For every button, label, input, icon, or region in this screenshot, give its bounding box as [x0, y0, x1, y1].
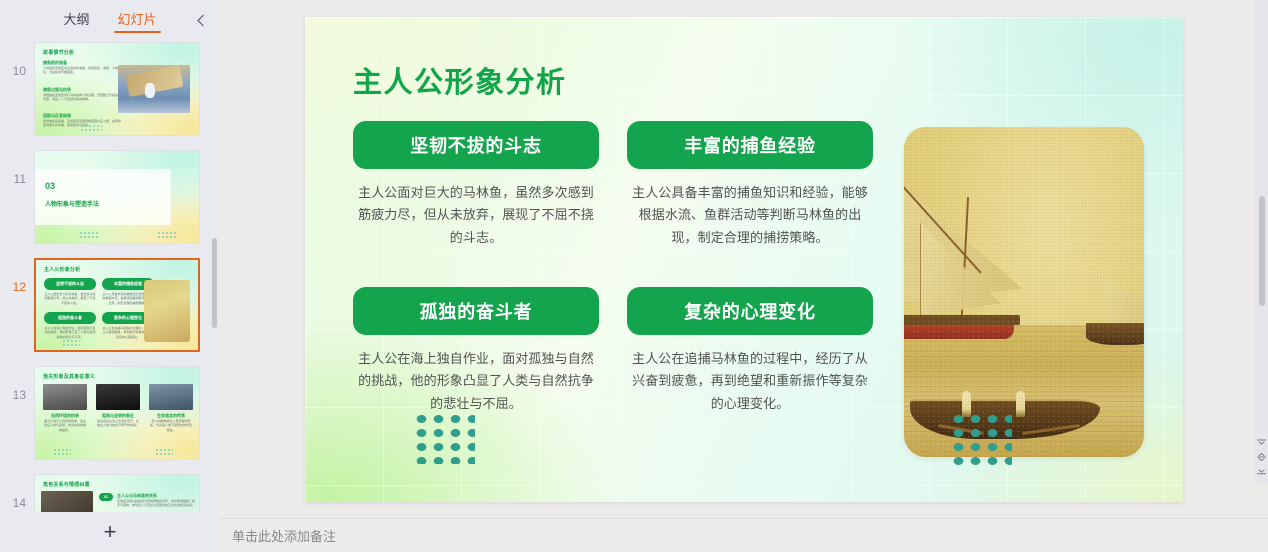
decor-dots-left — [413, 412, 475, 464]
thumb-item-text: 渔夫孤身在海上的漫长坚守，反映出人类对信念与尊严的执着。 — [96, 419, 140, 428]
thumb-section-2: 捕鱼过程与抗争 详细描绘圣地亚哥与马林鱼搏斗的过程，历经数日与鲨鱼的周旋，刻画了… — [43, 87, 121, 102]
panel-scroll-thumb[interactable] — [212, 238, 217, 328]
content-card-2[interactable]: 丰富的捕鱼经验 主人公具备丰富的捕鱼知识和经验，能够根据水流、鱼群活动等判断马林… — [627, 121, 873, 249]
thumb-image — [43, 384, 87, 410]
next-slide-icon[interactable] — [1256, 468, 1266, 476]
thumb-chapter-number: 03 — [45, 181, 55, 191]
thumbnail-row-13[interactable]: 13 渔夫形象及其象征意义 自然环境的抗争 面对大海与大自然的伟岸，渔夫象征人类… — [0, 366, 220, 460]
thumb-item-badge: 01 — [99, 493, 113, 501]
thumb-image — [96, 384, 140, 410]
painting-artwork — [904, 127, 1144, 457]
thumbnail-row-12[interactable]: 12 主人公形象分析 坚韧不拔的斗志 主人公面对巨大的马林鱼，虽然多次感到筋疲力… — [0, 258, 220, 352]
thumb-card-1: 坚韧不拔的斗志 主人公面对巨大的马林鱼，虽然多次感到筋疲力尽，但从未放弃，展现了… — [44, 278, 96, 305]
thumbnail-row-11[interactable]: 11 03 人物形象与塑造手法 — [0, 150, 220, 244]
thumb-item-1: 自然环境的抗争 面对大海与大自然的伟岸，渔夫象征人类与自然、命运抗争的精神缩影。 — [43, 384, 87, 432]
slide-number: 12 — [4, 258, 34, 294]
slide-thumbnail-12[interactable]: 主人公形象分析 坚韧不拔的斗志 主人公面对巨大的马林鱼，虽然多次感到筋疲力尽，但… — [34, 258, 200, 352]
decor-dots-right — [950, 412, 1012, 470]
slide-number: 14 — [4, 474, 34, 510]
card-heading[interactable]: 复杂的心理变化 — [627, 287, 873, 335]
thumb-item-text: 老人的精神通过小男孩得到传递，代表着人类不屈意志的代际延续。 — [149, 419, 193, 432]
thumb-card-3: 孤独的奋斗者 主人公在海上独自作业，面对孤独与自然的挑战，他的形象凸显了人类与自… — [44, 312, 96, 339]
thumb-card-heading: 孤独的奋斗者 — [44, 312, 96, 324]
thumb-item-text: 圣地亚哥把马林鱼视为值得尊敬的对手，这份敬意超越了猎手与猎物，体现出人与自然之间… — [117, 499, 195, 508]
thumb-image — [149, 384, 193, 410]
thumb-image — [118, 65, 190, 113]
thumb-title: 主人公形象分析 — [44, 266, 80, 273]
slide-thumbnail-10[interactable]: 故事情节分析 捕鱼前的准备 小说描述圣地亚哥出海前的准备，包括渔具、诱饵、人物心… — [34, 42, 200, 136]
thumb-dots-decor — [155, 448, 173, 456]
thumb-section-text: 详细描绘圣地亚哥与马林鱼搏斗的过程，历经数日与鲨鱼的周旋，刻画了人与自然抗争的精… — [43, 93, 121, 102]
thumb-card-text: 主人公面对巨大的马林鱼，虽然多次感到筋疲力尽，但从未放弃，展现了不屈不挠的斗志。 — [44, 292, 96, 305]
slide-number: 13 — [4, 366, 34, 402]
card-body-text[interactable]: 主人公在海上独自作业，面对孤独与自然的挑战，他的形象凸显了人类与自然抗争的悲壮与… — [353, 348, 599, 415]
slide-number: 11 — [4, 150, 34, 186]
thumb-item-3: 生存信念的传承 老人的精神通过小男孩得到传递，代表着人类不屈意志的代际延续。 — [149, 384, 193, 432]
thumb-dots-decor — [79, 231, 99, 239]
card-heading[interactable]: 孤独的奋斗者 — [353, 287, 599, 335]
thumb-item-1: 01 主人公与马林鱼的关系 圣地亚哥把马林鱼视为值得尊敬的对手，这份敬意超越了猎… — [99, 493, 195, 508]
slide-canvas[interactable]: 主人公形象分析 坚韧不拔的斗志 主人公面对巨大的马林鱼，虽然多次感到筋疲力尽，但… — [305, 17, 1183, 502]
slide-title[interactable]: 主人公形象分析 — [353, 59, 567, 101]
thumb-card-heading: 坚韧不拔的斗志 — [44, 278, 96, 290]
thumb-title: 渔夫形象及其象征意义 — [43, 373, 95, 380]
thumbnail-list[interactable]: 10 故事情节分析 捕鱼前的准备 小说描述圣地亚哥出海前的准备，包括渔具、诱饵、… — [0, 38, 220, 512]
thumb-section-text: 小说描述圣地亚哥出海前的准备，包括渔具、诱饵、人物心境，为后续情节做铺垫。 — [43, 66, 121, 75]
card-body-text[interactable]: 主人公在追捕马林鱼的过程中，经历了从兴奋到疲惫，再到绝望和重新振作等复杂的心理变… — [627, 348, 873, 415]
content-card-3[interactable]: 孤独的奋斗者 主人公在海上独自作业，面对孤独与自然的挑战，他的形象凸显了人类与自… — [353, 287, 599, 415]
editor-main: 主人公形象分析 坚韧不拔的斗志 主人公面对巨大的马林鱼，虽然多次感到筋疲力尽，但… — [220, 0, 1268, 552]
thumbnail-row-10[interactable]: 10 故事情节分析 捕鱼前的准备 小说描述圣地亚哥出海前的准备，包括渔具、诱饵、… — [0, 42, 220, 136]
thumb-image — [144, 280, 190, 342]
thumb-card-text: 主人公在海上独自作业，面对孤独与自然的挑战，他的形象凸显了人类与自然抗争的悲壮与… — [44, 326, 96, 339]
slide-thumbnail-14[interactable]: 角色关系与情感纠葛 01 主人公与马林鱼的关系 圣地亚哥把马林鱼视为值得尊敬的对… — [34, 474, 200, 512]
slide-canvas-area[interactable]: 主人公形象分析 坚韧不拔的斗志 主人公面对巨大的马林鱼，虽然多次感到筋疲力尽，但… — [220, 0, 1268, 518]
painting-texture — [904, 127, 1144, 457]
content-card-4[interactable]: 复杂的心理变化 主人公在追捕马林鱼的过程中，经历了从兴奋到疲惫，再到绝望和重新振… — [627, 287, 873, 415]
thumb-item-text: 面对大海与大自然的伟岸，渔夫象征人类与自然、命运抗争的精神缩影。 — [43, 419, 87, 432]
slide-position-icon[interactable] — [1256, 453, 1266, 461]
thumb-title: 故事情节分析 — [43, 49, 74, 56]
notes-bar[interactable]: 单击此处添加备注 — [220, 518, 1268, 552]
thumb-image — [41, 491, 93, 512]
thumbnail-row-14[interactable]: 14 角色关系与情感纠葛 01 主人公与马林鱼的关系 圣地亚哥把马林鱼视为值得尊… — [0, 474, 220, 512]
thumb-dots-decor — [62, 339, 80, 347]
slide-thumbnail-11[interactable]: 03 人物形象与塑造手法 — [34, 150, 200, 244]
card-body-text[interactable]: 主人公具备丰富的捕鱼知识和经验，能够根据水流、鱼群活动等判断马林鱼的出现，制定合… — [627, 182, 873, 249]
thumb-card-panel — [35, 169, 171, 225]
thumb-title: 人物形象与塑造手法 — [45, 199, 99, 208]
thumb-dots-decor — [53, 448, 71, 456]
card-body-text[interactable]: 主人公面对巨大的马林鱼，虽然多次感到筋疲力尽，但从未放弃，展现了不屈不挠的斗志。 — [353, 182, 599, 249]
notes-placeholder[interactable]: 单击此处添加备注 — [232, 526, 336, 545]
sailboats-and-rowboat-painting[interactable] — [904, 127, 1144, 457]
canvas-scroll-thumb[interactable] — [1259, 196, 1265, 306]
thumb-item-2: 孤独与坚韧的象征 渔夫孤身在海上的漫长坚守，反映出人类对信念与尊严的执着。 — [96, 384, 140, 428]
ppt-editor-window: 大纲 幻灯片 10 故事情节分析 捕鱼前的准备 小说描述圣地亚哥出海前的准备，包… — [0, 0, 1268, 552]
card-heading[interactable]: 丰富的捕鱼经验 — [627, 121, 873, 169]
add-slide-button[interactable]: + — [0, 512, 220, 552]
card-heading[interactable]: 坚韧不拔的斗志 — [353, 121, 599, 169]
tab-outline[interactable]: 大纲 — [61, 10, 91, 33]
content-card-1[interactable]: 坚韧不拔的斗志 主人公面对巨大的马林鱼，虽然多次感到筋疲力尽，但从未放弃，展现了… — [353, 121, 599, 249]
plus-icon: + — [104, 521, 117, 543]
previous-slide-icon[interactable] — [1256, 438, 1266, 446]
thumb-dots-decor — [157, 231, 177, 239]
thumb-section-1: 捕鱼前的准备 小说描述圣地亚哥出海前的准备，包括渔具、诱饵、人物心境，为后续情节… — [43, 60, 121, 75]
thumb-title: 角色关系与情感纠葛 — [43, 481, 90, 488]
card-grid: 坚韧不拔的斗志 主人公面对巨大的马林鱼，虽然多次感到筋疲力尽，但从未放弃，展现了… — [353, 121, 873, 415]
panel-tab-bar: 大纲 幻灯片 — [0, 0, 220, 38]
slides-panel: 大纲 幻灯片 10 故事情节分析 捕鱼前的准备 小说描述圣地亚哥出海前的准备，包… — [0, 0, 220, 552]
chevron-left-icon[interactable] — [192, 12, 208, 28]
slide-number: 10 — [4, 42, 34, 78]
slide-thumbnail-13[interactable]: 渔夫形象及其象征意义 自然环境的抗争 面对大海与大自然的伟岸，渔夫象征人类与自然… — [34, 366, 200, 460]
slide-nav-controls — [1256, 438, 1266, 476]
thumb-dots-decor — [80, 124, 102, 132]
tab-slides[interactable]: 幻灯片 — [116, 10, 159, 33]
